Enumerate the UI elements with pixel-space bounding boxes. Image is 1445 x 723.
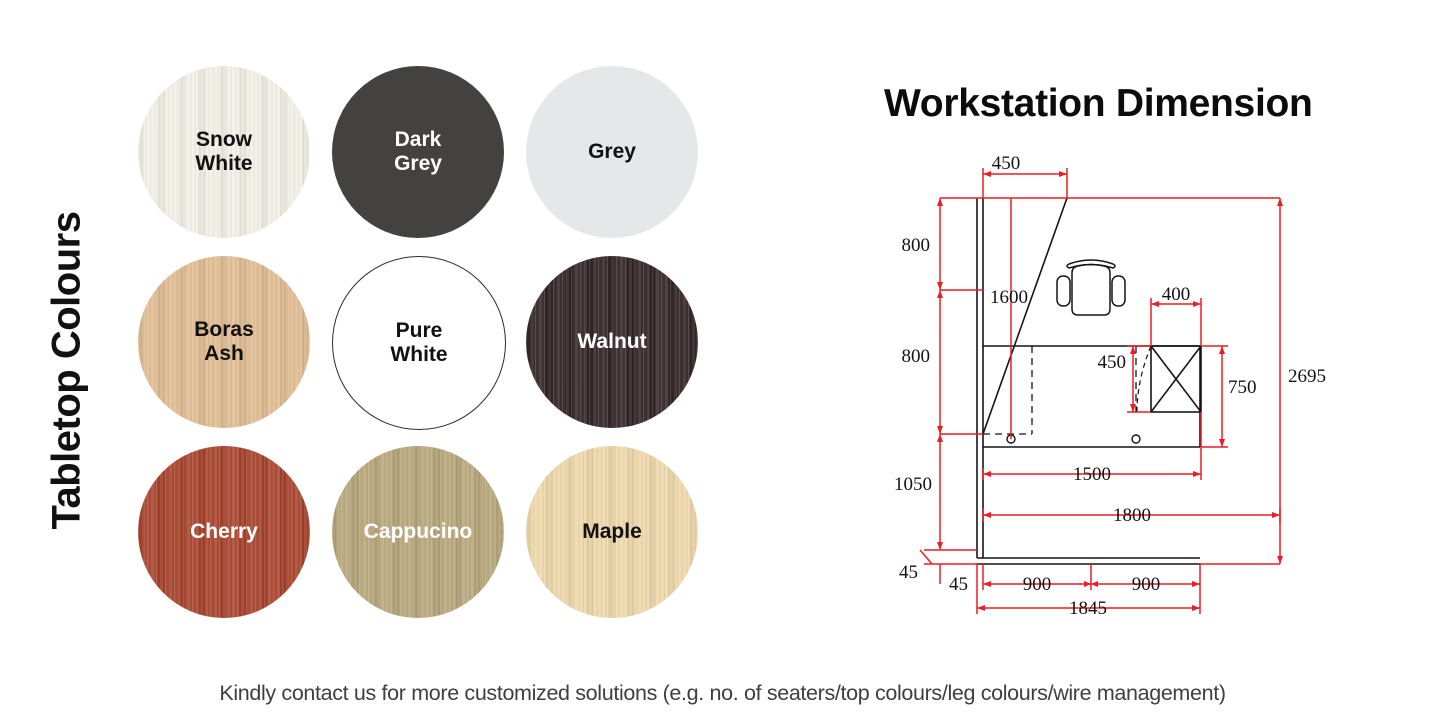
colour-swatch-label: Grey: [588, 140, 636, 164]
office-chair-top-view: [1057, 260, 1125, 315]
cable-grommet-right: [1132, 435, 1140, 443]
dimension-lines: [920, 168, 1280, 614]
colour-swatch-dark-grey[interactable]: DarkGrey: [332, 66, 504, 238]
colour-swatch-grey[interactable]: Grey: [526, 66, 698, 238]
colour-swatch-label: Walnut: [577, 330, 646, 354]
colour-swatch-label: Cherry: [190, 520, 258, 544]
colour-swatch-walnut[interactable]: Walnut: [526, 256, 698, 428]
colour-swatch-label: Maple: [582, 520, 642, 544]
colour-swatch-cherry[interactable]: Cherry: [138, 446, 310, 618]
dim-1050-left: 1050: [894, 474, 932, 495]
colour-swatch-pure-white[interactable]: PureWhite: [332, 256, 506, 430]
colour-swatch-label: DarkGrey: [394, 128, 442, 177]
slide-canvas: Tabletop Colours SnowWhiteDarkGreyGreyBo…: [0, 0, 1445, 723]
workstation-dimension-title: Workstation Dimension: [884, 82, 1313, 126]
dim-450-top: 450: [992, 153, 1021, 174]
colour-swatch-label: BorasAsh: [194, 318, 254, 367]
colour-swatch-label: PureWhite: [390, 319, 447, 368]
dim-750-right: 750: [1228, 377, 1257, 398]
pedestal-open-arc: [1137, 346, 1151, 412]
colour-swatch-label: SnowWhite: [195, 128, 252, 177]
dim-900-left: 900: [1023, 574, 1052, 595]
dim-800-lower: 800: [902, 346, 931, 367]
footer-note: Kindly contact us for more customized so…: [0, 681, 1445, 706]
dim-45-inner: 45: [949, 574, 968, 595]
dim-1600-inner: 1600: [990, 287, 1028, 308]
section-label-tabletop-colours: Tabletop Colours: [45, 206, 90, 536]
dim-2695-overall: 2695: [1288, 366, 1326, 387]
dim-1845-bottom: 1845: [1069, 598, 1107, 619]
colour-swatch-maple[interactable]: Maple: [526, 446, 698, 618]
tabletop-colour-grid: SnowWhiteDarkGreyGreyBorasAshPureWhiteWa…: [138, 66, 718, 636]
dim-450-right: 450: [1098, 352, 1127, 373]
colour-swatch-cappucino[interactable]: Cappucino: [332, 446, 504, 618]
dim-800-upper: 800: [902, 235, 931, 256]
dim-1800-mid: 1800: [1113, 505, 1151, 526]
colour-swatch-snow-white[interactable]: SnowWhite: [138, 66, 310, 238]
workstation-dimension-drawing: 450 800 1600 800 400 450 750 2695 1050 1…: [880, 150, 1370, 630]
colour-swatch-label: Cappucino: [364, 520, 473, 544]
colour-swatch-boras-ash[interactable]: BorasAsh: [138, 256, 310, 428]
dim-400-right: 400: [1162, 284, 1191, 305]
dim-45-outer: 45: [899, 562, 918, 583]
dim-900-right: 900: [1132, 574, 1161, 595]
dim-1500-mid: 1500: [1073, 464, 1111, 485]
